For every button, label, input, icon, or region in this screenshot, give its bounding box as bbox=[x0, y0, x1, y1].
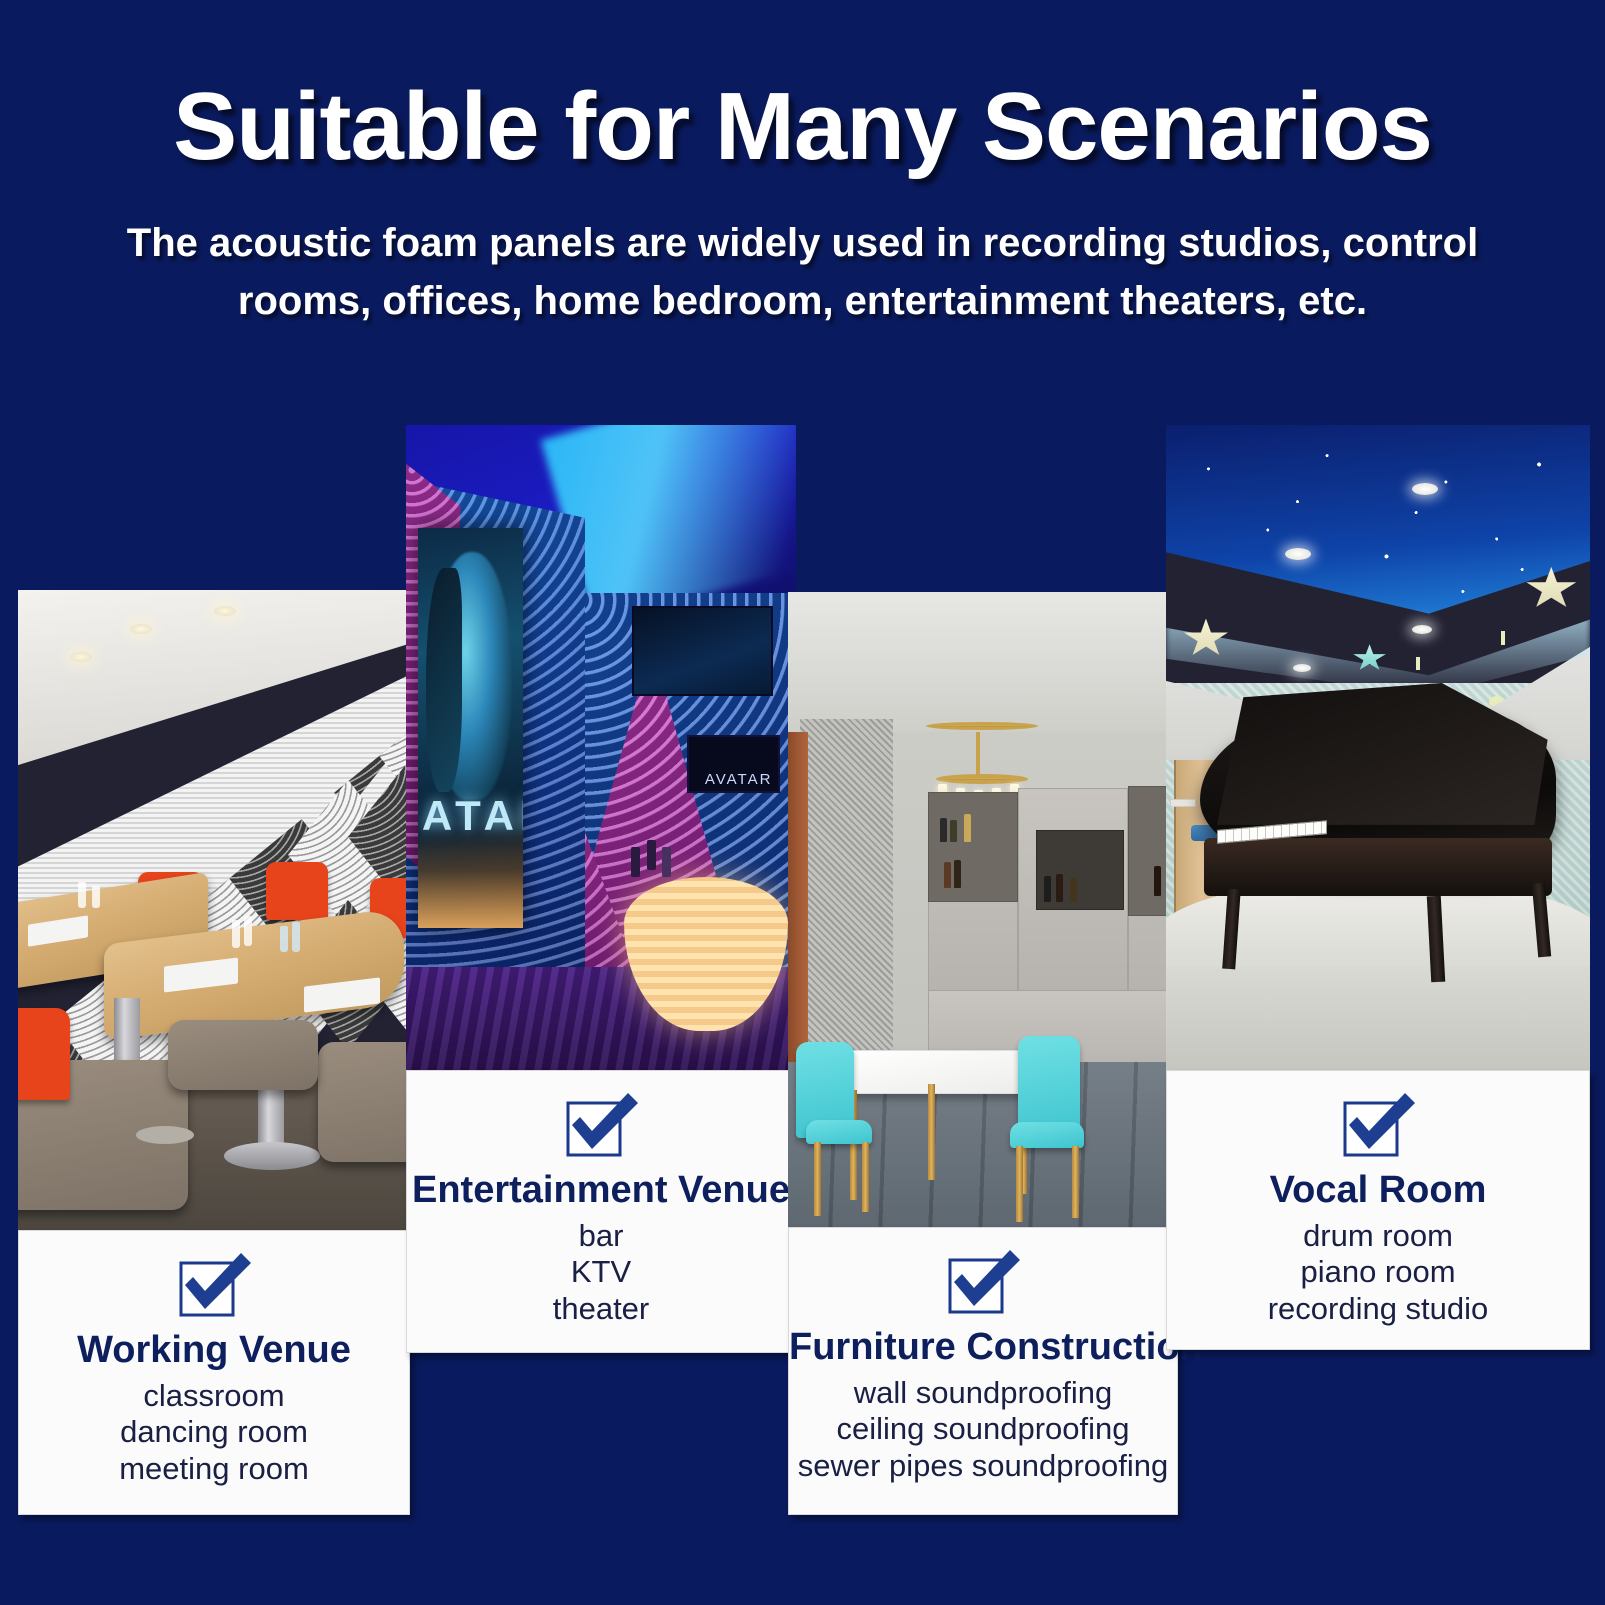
checkbox-checked-icon bbox=[407, 1089, 795, 1161]
card-subitem: meeting room bbox=[19, 1451, 409, 1487]
furniture-construction-photo bbox=[788, 592, 1178, 1227]
card-subitems: classroom dancing room meeting room bbox=[19, 1378, 409, 1487]
card-subitem: wall soundproofing bbox=[789, 1375, 1177, 1411]
card-title: Vocal Room bbox=[1167, 1169, 1589, 1212]
venue-screen-label: AVATAR bbox=[687, 735, 781, 793]
working-venue-panel: Working Venue classroom dancing room mee… bbox=[18, 1230, 410, 1515]
card-subitem: dancing room bbox=[19, 1414, 409, 1450]
card-subitem: KTV bbox=[407, 1254, 795, 1290]
card-subitems: drum room piano room recording studio bbox=[1167, 1218, 1589, 1327]
avatar-poster: ATAR bbox=[418, 528, 523, 928]
card-subitem: piano room bbox=[1167, 1254, 1589, 1290]
checkbox-checked-icon bbox=[1167, 1089, 1589, 1161]
card-subitem: bar bbox=[407, 1218, 795, 1254]
entertainment-venue-photo: AVATAR ATAR bbox=[406, 425, 796, 1070]
card-title: Entertainment Venue bbox=[407, 1169, 795, 1212]
furniture-construction-panel: Furniture Construction wall soundproofin… bbox=[788, 1227, 1178, 1515]
working-venue-photo bbox=[18, 590, 410, 1230]
page-subtitle: The acoustic foam panels are widely used… bbox=[0, 214, 1605, 330]
entertainment-venue-panel: Entertainment Venue bar KTV theater bbox=[406, 1070, 796, 1353]
scenario-card-furniture-construction[interactable]: Furniture Construction wall soundproofin… bbox=[788, 592, 1178, 1515]
card-subitem: recording studio bbox=[1167, 1291, 1589, 1327]
card-subitems: wall soundproofing ceiling soundproofing… bbox=[789, 1375, 1177, 1484]
card-subitem: classroom bbox=[19, 1378, 409, 1414]
card-subitem: ceiling soundproofing bbox=[789, 1411, 1177, 1447]
card-title: Furniture Construction bbox=[789, 1326, 1177, 1369]
scenario-card-vocal-room[interactable]: Vocal Room drum room piano room recordin… bbox=[1166, 425, 1590, 1350]
vocal-room-photo bbox=[1166, 425, 1590, 1070]
checkbox-checked-icon bbox=[19, 1249, 409, 1321]
card-subitem: sewer pipes soundproofing bbox=[789, 1448, 1177, 1484]
vocal-room-panel: Vocal Room drum room piano room recordin… bbox=[1166, 1070, 1590, 1350]
card-subitems: bar KTV theater bbox=[407, 1218, 795, 1327]
scenario-card-entertainment-venue[interactable]: AVATAR ATAR Entertainment Venue bar bbox=[406, 425, 796, 1353]
card-title: Working Venue bbox=[19, 1329, 409, 1372]
card-subitem: theater bbox=[407, 1291, 795, 1327]
page-title: Suitable for Many Scenarios bbox=[0, 72, 1605, 182]
checkbox-checked-icon bbox=[789, 1246, 1177, 1318]
poster-title: ATAR bbox=[422, 792, 519, 840]
header: Suitable for Many Scenarios The acoustic… bbox=[0, 0, 1605, 330]
scenario-card-working-venue[interactable]: Working Venue classroom dancing room mee… bbox=[18, 590, 410, 1515]
card-subitem: drum room bbox=[1167, 1218, 1589, 1254]
